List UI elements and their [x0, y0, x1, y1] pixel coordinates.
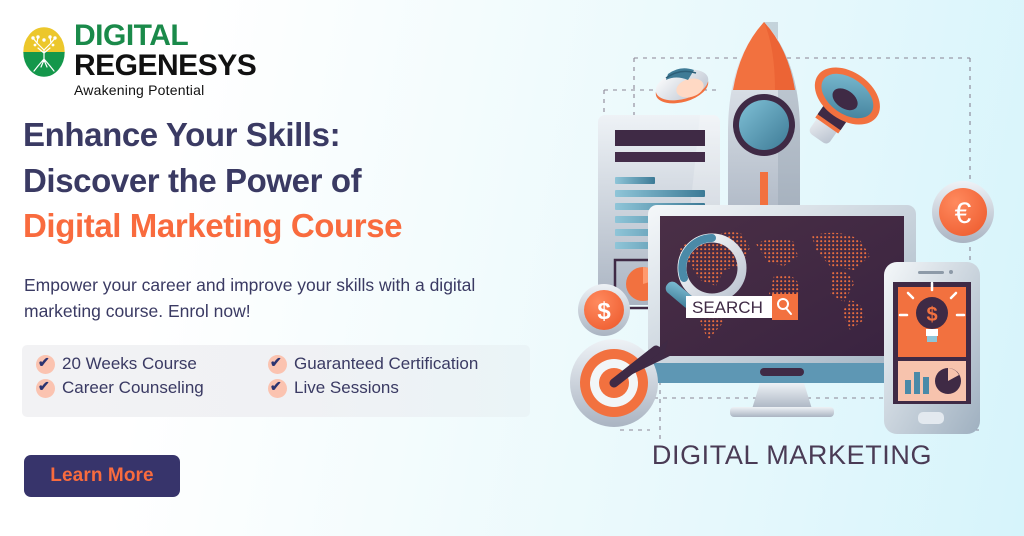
search-bar: SEARCH [686, 294, 798, 320]
brand-name-line1: DIGITAL [74, 22, 256, 51]
megaphone-icon [788, 56, 891, 160]
headline-line-1: Enhance Your Skills: [23, 112, 543, 158]
brand-wordmark: DIGITAL REGENESYS Awakening Potential [74, 22, 256, 98]
search-label: SEARCH [692, 298, 763, 317]
svg-text:$: $ [926, 304, 937, 326]
headline-line-2: Discover the Power of [23, 158, 543, 204]
pie-chart-small-icon [935, 368, 961, 394]
subtitle-text: Empower your career and improve your ski… [24, 272, 554, 325]
learn-more-label: Learn More [50, 465, 153, 487]
headline-line-3: Digital Marketing Course [23, 203, 543, 249]
check-icon [36, 379, 55, 398]
brand-logo[interactable]: DIGITAL REGENESYS Awakening Potential [22, 22, 256, 98]
svg-text:$: $ [597, 298, 611, 325]
brand-tagline: Awakening Potential [74, 82, 256, 98]
feature-item: Live Sessions [268, 378, 516, 398]
brand-name-line2: REGENESYS [74, 51, 256, 81]
features-panel: 20 Weeks Course Guaranteed Certification… [22, 345, 530, 417]
feature-label: Career Counseling [62, 378, 204, 398]
euro-coin-icon: € [932, 181, 994, 243]
smartphone-icon: $ [884, 262, 980, 434]
illustration-caption: DIGITAL MARKETING [560, 440, 1024, 471]
learn-more-button[interactable]: Learn More [24, 455, 180, 497]
computer-mouse-icon [652, 64, 712, 109]
feature-item: 20 Weeks Course [36, 354, 268, 374]
check-icon [268, 379, 287, 398]
left-content-panel: DIGITAL REGENESYS Awakening Potential En… [0, 0, 570, 536]
dollar-coin-icon: $ [578, 284, 630, 336]
feature-label: Live Sessions [294, 378, 399, 398]
feature-label: 20 Weeks Course [62, 354, 197, 374]
check-icon [36, 355, 55, 374]
marketing-illustration: SEARCH $ [560, 0, 1024, 536]
page-title: Enhance Your Skills: Discover the Power … [23, 112, 543, 249]
svg-text:€: € [955, 197, 972, 230]
feature-item: Guaranteed Certification [268, 354, 516, 374]
check-icon [268, 355, 287, 374]
feature-item: Career Counseling [36, 378, 268, 398]
desktop-monitor-icon: SEARCH [648, 205, 916, 417]
tree-emblem-icon [22, 26, 66, 78]
feature-label: Guaranteed Certification [294, 354, 478, 374]
